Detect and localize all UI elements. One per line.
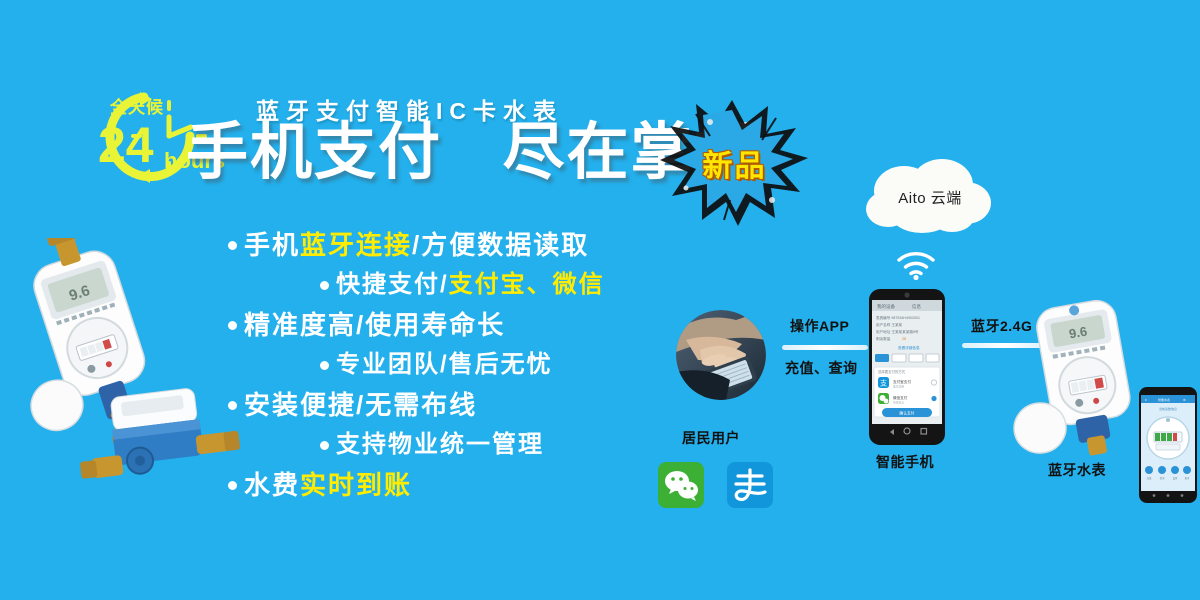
wifi-icon <box>895 248 937 280</box>
svg-text:当前读数信息: 当前读数信息 <box>1159 406 1177 411</box>
feature-text-segment: 快捷支付/ <box>336 273 449 297</box>
svg-text:推荐使用: 推荐使用 <box>893 385 904 389</box>
svg-text:快捷安全: 快捷安全 <box>893 401 904 405</box>
alipay-icon[interactable] <box>727 462 773 508</box>
feature-item: 专业团队/售后无忧 <box>228 353 698 377</box>
feature-text-segment: 精准度高/使用寿命长 <box>244 312 505 338</box>
bullet-dot-icon <box>228 321 237 330</box>
svg-text:支付宝支付: 支付宝支付 <box>893 379 911 384</box>
svg-text:剩余数量: 剩余数量 <box>876 336 891 341</box>
feature-item: 水费实时到账 <box>228 472 698 498</box>
smartphone-image: 我的设备信息 表具编号 987534H4902001 用户名称 王某某 用户地址… <box>868 288 946 446</box>
badge-number: 24 <box>98 117 154 173</box>
user-label: 居民用户 <box>682 428 740 448</box>
feature-item: 快捷支付/支付宝、微信 <box>228 273 698 297</box>
feature-text-segment: 专业团队/售后无忧 <box>336 353 553 377</box>
feature-text-segment: 支付宝、微信 <box>449 273 605 297</box>
link-app-label: 操作APP <box>790 316 849 336</box>
svg-text:选择要支付的方式: 选择要支付的方式 <box>878 369 906 374</box>
svg-text:更多: 更多 <box>1185 476 1190 480</box>
feature-text-segment: 手机 <box>244 232 300 258</box>
svg-text:9.6: 9.6 <box>1068 324 1088 342</box>
new-product-badge: 新品 <box>650 92 815 232</box>
svg-text:用户名称 王某某: 用户名称 王某某 <box>876 322 903 327</box>
svg-text:微信支付: 微信支付 <box>893 395 908 400</box>
svg-text:设置: 设置 <box>1173 476 1178 480</box>
wechat-pay-icon[interactable] <box>658 462 704 508</box>
meter-reading-app-phone: ≡智能水表⚙ 当前读数信息 充值查询 设置更多 <box>1138 386 1198 504</box>
phone-label: 智能手机 <box>876 452 934 472</box>
feature-list: 手机蓝牙连接/方便数据读取快捷支付/支付宝、微信精准度高/使用寿命长专业团队/售… <box>228 232 698 513</box>
feature-text-segment: 支持物业统一管理 <box>336 433 544 457</box>
feature-text-segment: 水费 <box>244 472 300 498</box>
svg-text:用户地址 王某某某某路8号: 用户地址 王某某某某路8号 <box>876 329 919 334</box>
bluetooth-water-meter-image: 9.6 <box>1010 298 1155 458</box>
bullet-dot-icon <box>320 281 329 290</box>
cloud-label: Aito 云端 <box>860 155 1000 240</box>
svg-text:我的设备: 我的设备 <box>877 303 895 310</box>
badge-top-text: 全天候 <box>109 97 164 117</box>
feature-item: 支持物业统一管理 <box>228 433 698 457</box>
product-image-valve-meter <box>76 378 246 508</box>
user-photo <box>676 310 766 400</box>
svg-text:查询: 查询 <box>1160 476 1165 480</box>
svg-text:智能水表: 智能水表 <box>1158 397 1170 402</box>
svg-text:表具编号 987534H4902001: 表具编号 987534H4902001 <box>876 315 920 320</box>
bullet-dot-icon <box>228 241 237 250</box>
feature-text-segment: 蓝牙连接 <box>300 232 412 258</box>
svg-text:信息: 信息 <box>912 303 921 310</box>
meter-label: 蓝牙水表 <box>1048 460 1106 480</box>
payment-icons <box>658 462 773 508</box>
feature-item: 安装便捷/无需布线 <box>228 392 698 418</box>
connector-user-to-phone <box>782 345 868 350</box>
link-recharge-label: 充值、查询 <box>785 358 858 378</box>
svg-text:≡: ≡ <box>1145 398 1147 402</box>
bullet-dot-icon <box>320 441 329 450</box>
bullet-dot-icon <box>320 361 329 370</box>
svg-text:⚙: ⚙ <box>1183 398 1186 402</box>
banner-title-part-1: 手机支付 <box>186 118 442 187</box>
feature-item: 精准度高/使用寿命长 <box>228 312 698 338</box>
svg-text:确认支付: 确认支付 <box>899 411 914 416</box>
promo-banner: 全天候 24 hours 蓝牙支付智能IC卡水表 手机支付 尽在掌握 新品 <box>0 0 1200 600</box>
feature-text-segment: /方便数据读取 <box>412 232 589 258</box>
feature-item: 手机蓝牙连接/方便数据读取 <box>228 232 698 258</box>
feature-text-segment: 实时到账 <box>300 472 412 498</box>
svg-text:25: 25 <box>902 337 906 341</box>
svg-text:查看详细信息: 查看详细信息 <box>898 345 920 350</box>
feature-text-segment: 安装便捷/无需布线 <box>244 392 477 418</box>
svg-text:支: 支 <box>880 379 887 388</box>
cloud-node: Aito 云端 <box>860 155 1000 240</box>
svg-text:充值: 充值 <box>1147 476 1152 480</box>
new-product-label: 新品 <box>650 92 815 232</box>
